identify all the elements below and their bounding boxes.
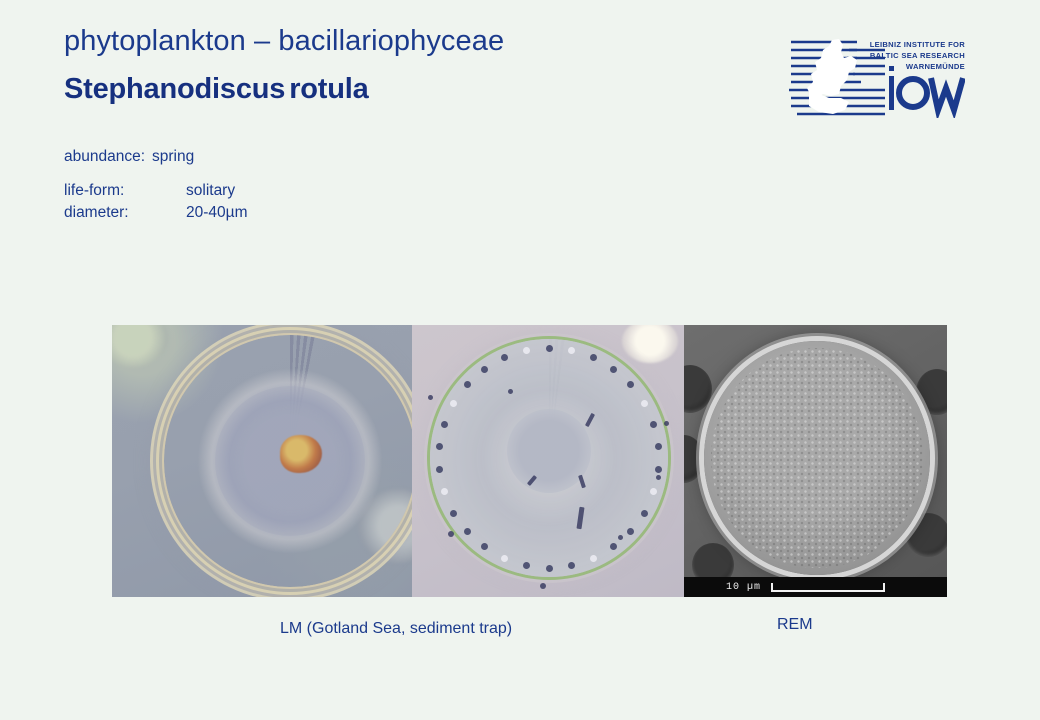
lm2-marginal-spine (655, 443, 662, 450)
light-micrograph-high-magnification (412, 325, 684, 597)
lm1-debris-top-left (112, 325, 168, 367)
light-micrograph-low-magnification (112, 325, 412, 597)
species-genus: Stephanodiscus (64, 73, 285, 105)
iow-logo: LEIBNIZ INSTITUTE FOR BALTIC SEA RESEARC… (789, 36, 965, 118)
fact-abundance-label: abundance: (64, 146, 152, 168)
lm2-marginal-spine (501, 555, 508, 562)
fact-diameter: diameter: 20-40µm (64, 202, 248, 224)
lm2-marginal-spine (523, 562, 530, 569)
species-name: Stephanodiscusrotula (64, 74, 764, 106)
species-facts: abundance: spring life-form: solitary di… (64, 146, 248, 224)
lm2-marginal-spine (450, 400, 457, 407)
fact-life-form-label: life-form: (64, 180, 186, 202)
lm2-marginal-spine (464, 381, 471, 388)
lm2-debris-fleck (664, 421, 669, 426)
sem-areola-texture (711, 348, 923, 568)
slide-header: phytoplankton – bacillariophyceae Stepha… (64, 26, 764, 106)
lm2-marginal-spine (546, 565, 553, 572)
lm2-marginal-spine (610, 366, 617, 373)
lm2-marginal-spine (655, 466, 662, 473)
fact-life-form-value: solitary (186, 180, 235, 202)
lm2-marginal-spine (546, 345, 553, 352)
lm2-debris-fleck (508, 389, 513, 394)
lm2-marginal-spine (641, 400, 648, 407)
lm2-debris-fleck (448, 531, 454, 537)
scanning-electron-micrograph: 10 µm (684, 325, 947, 597)
page-title: phytoplankton – bacillariophyceae (64, 26, 764, 58)
logo-line-1: LEIBNIZ INSTITUTE FOR (870, 40, 965, 49)
lm2-marginal-spine (650, 421, 657, 428)
caption-electron-micrograph: REM (777, 616, 813, 634)
logo-line-3: WARNEMÜNDE (906, 62, 965, 71)
lm2-marginal-spine (450, 510, 457, 517)
fact-diameter-label: diameter: (64, 202, 186, 224)
lm2-debris-fleck (656, 475, 661, 480)
species-epithet: rotula (289, 73, 368, 105)
lm2-marginal-spine (501, 354, 508, 361)
caption-light-micrograph: LM (Gotland Sea, sediment trap) (280, 620, 512, 638)
sem-scale-bar-rule (771, 583, 885, 592)
micrograph-strip: 10 µm (112, 325, 947, 597)
lm2-debris-fleck (618, 535, 623, 540)
lm2-marginal-spine (464, 528, 471, 535)
sem-diatom-valve (704, 341, 930, 575)
lm2-debris-fleck (428, 395, 433, 400)
lm2-marginal-spine (481, 366, 488, 373)
lm2-diatom-valve (430, 339, 668, 577)
sem-filter-pore (684, 435, 704, 483)
sem-filter-pore (916, 369, 947, 415)
logo-line-2: BALTIC SEA RESEARCH (870, 51, 965, 60)
lm2-debris-fleck (540, 583, 546, 589)
sem-scale-bar-label: 10 µm (726, 582, 761, 593)
logo-wordmark (889, 66, 963, 110)
lm2-bright-particle (622, 325, 678, 363)
fact-life-form: life-form: solitary (64, 180, 248, 202)
sem-scale-bar: 10 µm (684, 577, 947, 597)
lm2-marginal-spine (441, 421, 448, 428)
fact-abundance: abundance: spring (64, 146, 248, 168)
fact-abundance-value: spring (152, 146, 194, 168)
lm2-valve-center (507, 409, 591, 493)
sem-filter-pore (684, 365, 712, 413)
lm2-marginal-spine (641, 510, 648, 517)
fact-diameter-value: 20-40µm (186, 202, 248, 224)
lm2-marginal-spine (523, 347, 530, 354)
